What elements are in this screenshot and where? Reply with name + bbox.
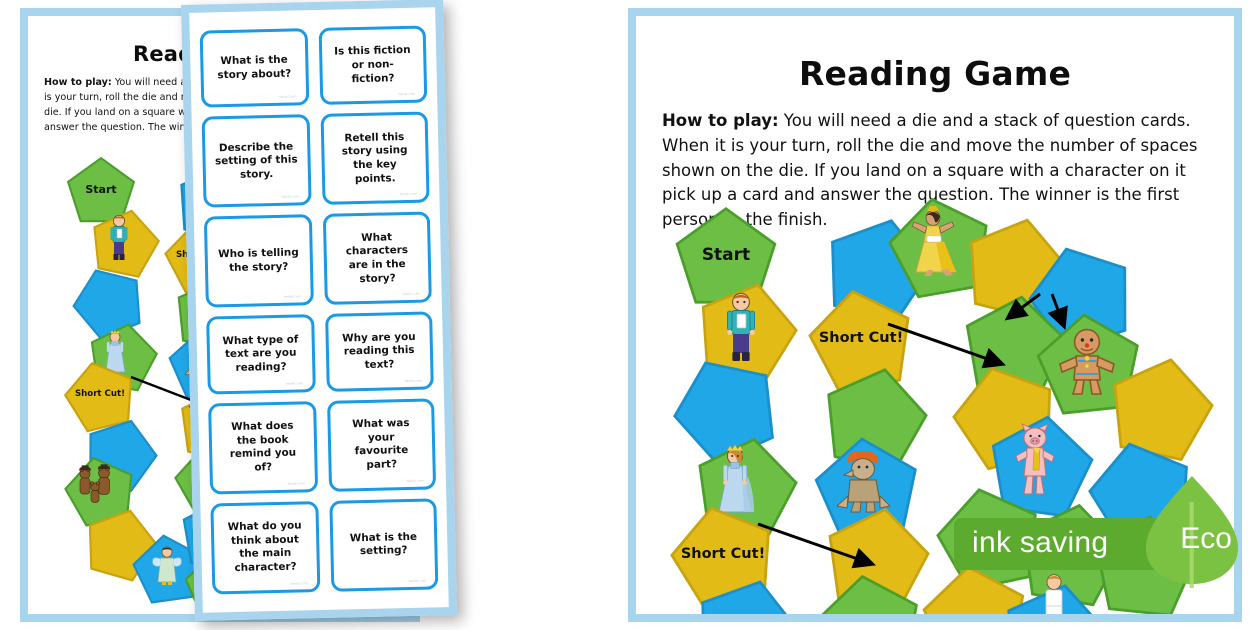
question-card[interactable]: What characters are in the story? twinkl… [322, 212, 432, 305]
question-card-text: What do you think about the main charact… [223, 520, 308, 576]
question-card[interactable]: Retell this story using the key points. … [320, 112, 430, 205]
card-watermark: twinkl.com [284, 295, 301, 300]
question-cards-panel: What is the story about? twinkl.com Is t… [189, 7, 449, 612]
card-watermark: twinkl.com [286, 381, 303, 386]
card-watermark: twinkl.com [400, 192, 417, 197]
card-watermark: twinkl.com [290, 581, 307, 586]
pentagon-blue-bottom-1 [694, 578, 800, 614]
pentagon-green-bottom-2 [816, 574, 922, 614]
question-card[interactable]: What do you think about the main charact… [210, 501, 320, 594]
question-card-text: What type of text are you reading? [219, 333, 303, 375]
screenshot-root: Reading Game How to play: You will need … [0, 0, 1260, 630]
page-preview-cards[interactable]: What is the story about? twinkl.com Is t… [181, 0, 457, 621]
question-card-text: Who is telling the story? [217, 247, 301, 276]
card-watermark: twinkl.com [409, 578, 426, 583]
card-watermark: twinkl.com [288, 481, 305, 486]
question-cards-grid: What is the story about? twinkl.com Is t… [200, 26, 439, 595]
card-watermark: twinkl.com [407, 478, 424, 483]
question-card[interactable]: What is the story about? twinkl.com [200, 28, 309, 108]
question-card-text: What does the book remind you of? [221, 420, 306, 476]
question-card[interactable]: Is this fiction or non-fiction? twinkl.c… [318, 26, 427, 106]
question-card-text: Describe the setting of this story. [214, 140, 298, 182]
question-card-text: What is the setting? [342, 531, 426, 560]
question-card[interactable]: Who is telling the story? twinkl.com [204, 215, 314, 308]
eco-badge-text: ink saving [972, 526, 1108, 560]
eco-badge-word: Eco [1180, 522, 1232, 556]
question-card-text: Why are you reading this text? [337, 331, 421, 373]
question-card[interactable]: What was your favourite part? twinkl.com [327, 398, 437, 491]
question-card-text: Is this fiction or non-fiction? [331, 44, 415, 86]
card-watermark: twinkl.com [404, 379, 421, 384]
question-card[interactable]: Describe the setting of this story. twin… [202, 115, 312, 208]
question-card[interactable]: Why are you reading this text? twinkl.co… [325, 312, 434, 392]
question-card-text: What is the story about? [212, 54, 296, 83]
question-card[interactable]: What does the book remind you of? twinkl… [208, 401, 318, 494]
question-card-text: What characters are in the story? [335, 231, 420, 287]
question-card[interactable]: What type of text are you reading? twink… [206, 315, 315, 395]
card-watermark: twinkl.com [279, 95, 296, 100]
question-card-text: What was your favourite part? [339, 417, 424, 473]
question-card-text: Retell this story using the key points. [332, 131, 417, 187]
card-watermark: twinkl.com [282, 195, 299, 200]
card-watermark: twinkl.com [402, 292, 419, 297]
card-watermark: twinkl.com [398, 92, 415, 97]
ink-saving-eco-badge: ink saving Eco [954, 448, 1254, 578]
question-card[interactable]: What is the setting? twinkl.com [329, 498, 439, 591]
